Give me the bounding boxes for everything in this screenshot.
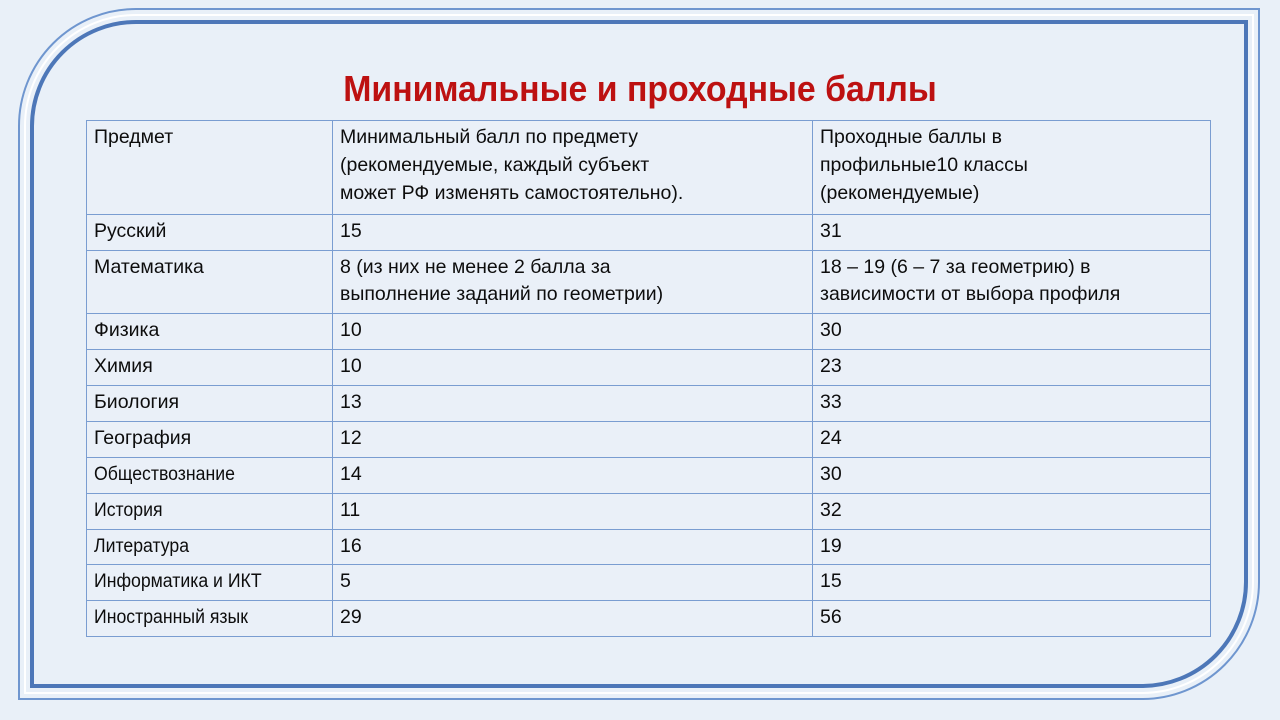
table-row: История 11 32: [87, 493, 1211, 529]
table-body: Предмет Минимальный балл по предмету (ре…: [87, 121, 1211, 637]
table-row: Математика 8 (из них не менее 2 балла за…: [87, 250, 1211, 314]
cell-subject: Биология: [87, 386, 333, 422]
table-row: Биология 13 33: [87, 386, 1211, 422]
cell-subject: Химия: [87, 350, 333, 386]
cell-minimum-score: 13: [333, 386, 813, 422]
cell-subject: География: [87, 421, 333, 457]
cell-passing-score: 24: [813, 421, 1211, 457]
table-row: Химия 10 23: [87, 350, 1211, 386]
table-row: Русский 15 31: [87, 214, 1211, 250]
cell-subject: Математика: [87, 250, 333, 314]
cell-passing-score: 19: [813, 529, 1211, 565]
minimum-and-passing-scores-table: Предмет Минимальный балл по предмету (ре…: [86, 120, 1211, 637]
cell-minimum-score: 14: [333, 457, 813, 493]
cell-passing-score: 23: [813, 350, 1211, 386]
page-title: Минимальные и проходные баллы: [38, 68, 1241, 110]
cell-passing-score: 15: [813, 565, 1211, 601]
cell-passing-score: 31: [813, 214, 1211, 250]
cell-subject: История: [87, 493, 333, 529]
cell-passing-score: 30: [813, 314, 1211, 350]
cell-subject: Информатика и ИКТ: [87, 565, 333, 601]
table-row: Информатика и ИКТ 5 15: [87, 565, 1211, 601]
cell-passing-score: 32: [813, 493, 1211, 529]
header-cell-minimum: Минимальный балл по предмету (рекомендуе…: [333, 121, 813, 215]
cell-minimum-score: 10: [333, 314, 813, 350]
table-row: Обществознание 14 30: [87, 457, 1211, 493]
cell-subject: Русский: [87, 214, 333, 250]
table-row: География 12 24: [87, 421, 1211, 457]
cell-passing-score: 56: [813, 601, 1211, 637]
cell-subject: Иностранный язык: [87, 601, 333, 637]
cell-subject: Физика: [87, 314, 333, 350]
cell-minimum-score: 8 (из них не менее 2 балла за выполнение…: [333, 250, 813, 314]
header-cell-subject: Предмет: [87, 121, 333, 215]
cell-passing-score: 18 – 19 (6 – 7 за геометрию) в зависимос…: [813, 250, 1211, 314]
cell-passing-score: 30: [813, 457, 1211, 493]
cell-subject: Литература: [87, 529, 333, 565]
cell-passing-score: 33: [813, 386, 1211, 422]
cell-minimum-score: 10: [333, 350, 813, 386]
table-header-row: Предмет Минимальный балл по предмету (ре…: [87, 121, 1211, 215]
cell-minimum-score: 12: [333, 421, 813, 457]
table-row: Литература 16 19: [87, 529, 1211, 565]
cell-subject: Обществознание: [87, 457, 333, 493]
cell-minimum-score: 16: [333, 529, 813, 565]
cell-minimum-score: 5: [333, 565, 813, 601]
cell-minimum-score: 29: [333, 601, 813, 637]
table-row: Физика 10 30: [87, 314, 1211, 350]
cell-minimum-score: 11: [333, 493, 813, 529]
cell-minimum-score: 15: [333, 214, 813, 250]
header-cell-passing: Проходные баллы в профильные10 классы (р…: [813, 121, 1211, 215]
table-row: Иностранный язык 29 56: [87, 601, 1211, 637]
